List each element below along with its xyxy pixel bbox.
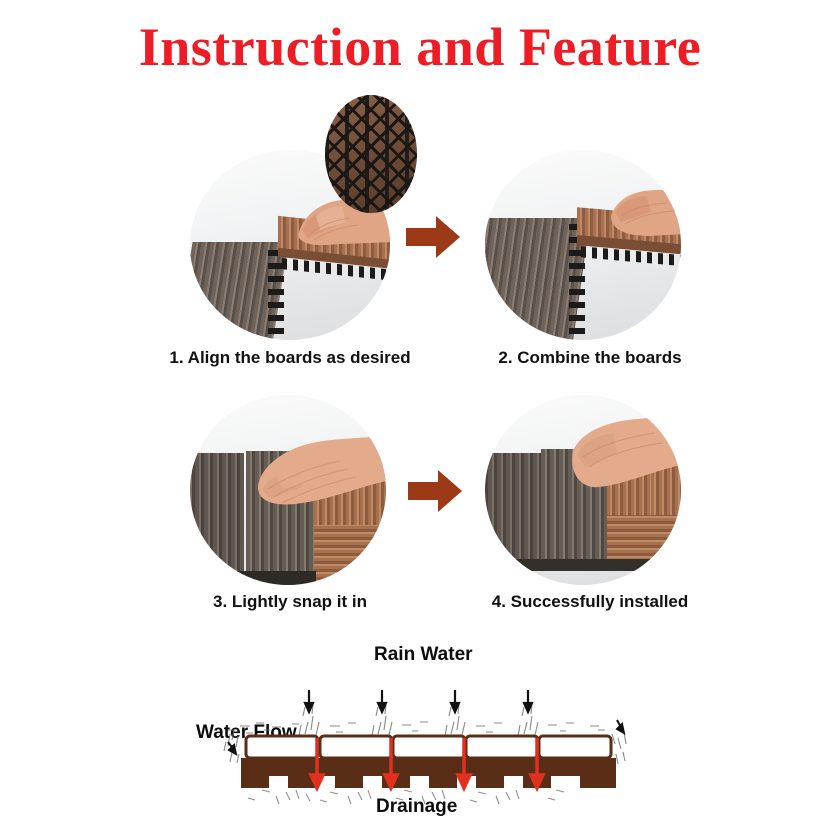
deck-tiles-row <box>246 736 611 758</box>
step-4-photo <box>485 395 681 585</box>
step-1-caption: 1. Align the boards as desired <box>130 348 450 368</box>
step-2-caption: 2. Combine the boards <box>430 348 750 368</box>
hand-icon <box>485 395 681 585</box>
step-4-caption: 4. Successfully installed <box>430 592 750 612</box>
under-deck-spray <box>248 790 564 804</box>
water-flow-arrow-right <box>617 720 624 733</box>
arrow-step1-to-step2 <box>404 212 462 267</box>
instruction-and-feature-page: Instruction and Feature <box>0 0 840 840</box>
hand-icon <box>485 150 681 340</box>
drainage-cross-section <box>0 630 840 840</box>
step-2-photo <box>485 150 681 340</box>
deck-support-legs <box>241 776 616 788</box>
page-title: Instruction and Feature <box>0 16 840 78</box>
arrow-step3-to-step4 <box>406 466 464 521</box>
rain-arrows <box>305 690 532 712</box>
deck-base-slab <box>241 758 616 776</box>
step-1-inset-underside <box>325 95 417 213</box>
step-3-caption: 3. Lightly snap it in <box>140 592 440 612</box>
water-flow-arrow-left <box>228 742 236 754</box>
hand-icon <box>190 395 386 585</box>
tile-underside-lattice <box>325 95 417 213</box>
drainage-diagram: Rain Water Water Flow Drainage <box>0 630 840 840</box>
step-3-photo <box>190 395 386 585</box>
